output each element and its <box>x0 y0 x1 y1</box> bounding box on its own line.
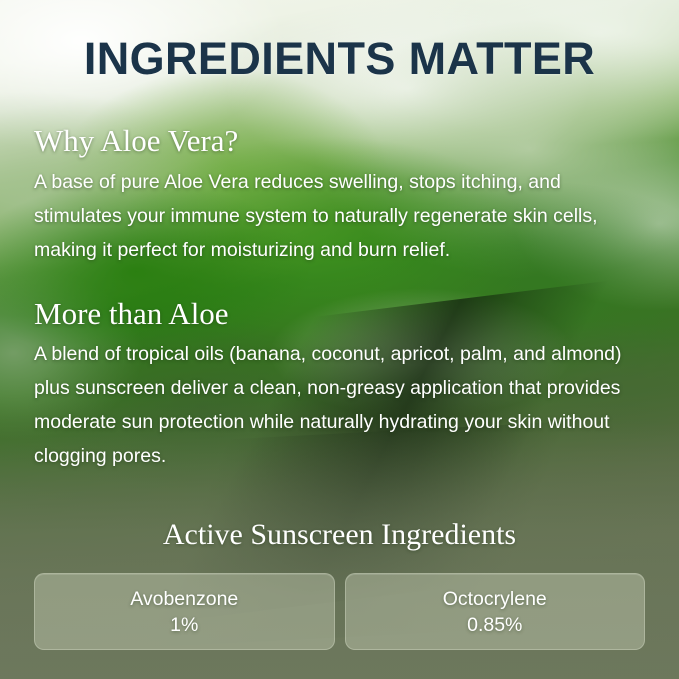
content-container: INGREDIENTS MATTER Why Aloe Vera? A base… <box>0 0 679 679</box>
page-title: INGREDIENTS MATTER <box>34 0 645 81</box>
ingredient-percentage: 1% <box>170 612 198 638</box>
ingredients-infographic: INGREDIENTS MATTER Why Aloe Vera? A base… <box>0 0 679 679</box>
section-heading-why-aloe-vera: Why Aloe Vera? <box>34 125 645 158</box>
ingredient-percentage: 0.85% <box>467 612 522 638</box>
section-body-more-than-aloe: A blend of tropical oils (banana, coconu… <box>34 330 645 473</box>
ingredient-card-avobenzone: Avobenzone 1% <box>34 573 335 650</box>
ingredient-name: Octocrylene <box>443 586 547 612</box>
active-ingredients-card-row: Avobenzone 1% Octocrylene 0.85% <box>34 550 645 650</box>
section-body-why-aloe-vera: A base of pure Aloe Vera reduces swellin… <box>34 158 645 267</box>
section-why-aloe-vera: Why Aloe Vera? A base of pure Aloe Vera … <box>34 81 645 267</box>
section-more-than-aloe: More than Aloe A blend of tropical oils … <box>34 267 645 474</box>
active-ingredients-heading: Active Sunscreen Ingredients <box>34 473 645 550</box>
ingredient-card-octocrylene: Octocrylene 0.85% <box>345 573 646 650</box>
section-heading-more-than-aloe: More than Aloe <box>34 298 645 331</box>
ingredient-name: Avobenzone <box>130 586 238 612</box>
